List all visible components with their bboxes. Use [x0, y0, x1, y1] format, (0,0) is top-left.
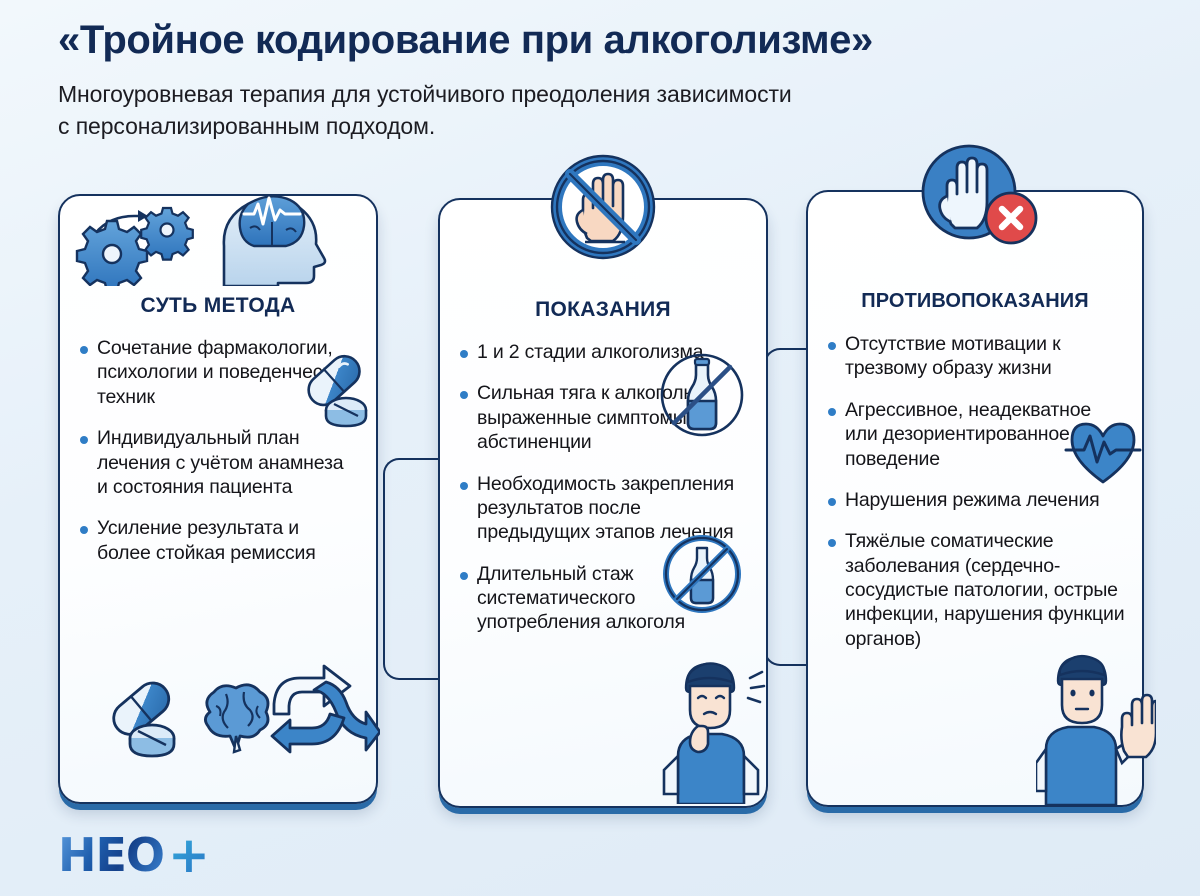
list-item: Сочетание фармакологии, психологии и пов… — [80, 336, 362, 409]
stop-hand-prohibited-icon — [543, 146, 663, 268]
card-1-bullets: Сочетание фармакологии, психологии и пов… — [80, 336, 362, 582]
bullet-dot-icon — [80, 526, 88, 534]
card-2-bullets: 1 и 2 стадии алкоголизма Сильная тяга к … — [460, 340, 752, 652]
logo-plus-icon: + — [168, 826, 210, 884]
worried-man-icon — [658, 652, 770, 804]
list-item: Усиление результата и более стойкая реми… — [80, 516, 362, 565]
bullet-text: Длительный стаж систематического употреб… — [477, 562, 752, 635]
bullet-dot-icon — [460, 572, 468, 580]
list-item: Отсутствие мотивации к трезвому образу ж… — [828, 332, 1128, 381]
hand-stop-red-x-icon — [907, 138, 1043, 260]
card-1-header-icons — [60, 182, 376, 286]
bullet-text: Сильная тяга к алкоголю и выраженные сим… — [477, 381, 752, 454]
logo-text: НЕО — [58, 828, 164, 882]
list-item: Сильная тяга к алкоголю и выраженные сим… — [460, 381, 752, 454]
bullet-text: Агрессивное, неадекватное или дезориенти… — [845, 398, 1128, 471]
bullet-dot-icon — [460, 391, 468, 399]
card-3-title: ПРОТИВОПОКАЗАНИЯ — [808, 290, 1142, 313]
list-item: Индивидуальный план лечения с учётом ана… — [80, 426, 362, 499]
bullet-text: Отсутствие мотивации к трезвому образу ж… — [845, 332, 1128, 381]
bullet-text: Тяжёлые соматические заболевания (сердеч… — [845, 529, 1128, 651]
brand-logo[interactable]: НЕО + — [58, 826, 210, 884]
bullet-text: 1 и 2 стадии алкоголизма — [477, 340, 703, 364]
gears-and-head-brain-icon — [72, 182, 372, 286]
list-item: Агрессивное, неадекватное или дезориенти… — [828, 398, 1128, 471]
bullet-dot-icon — [828, 498, 836, 506]
list-item: Необходимость закрепления результатов по… — [460, 472, 752, 545]
bullet-text: Индивидуальный план лечения с учётом ана… — [97, 426, 355, 499]
bullet-dot-icon — [828, 342, 836, 350]
card-2-header-icons — [440, 164, 766, 268]
card-method-essence[interactable]: СУТЬ МЕТОДА Сочетание фармакологии, псих… — [58, 194, 378, 804]
cards-container: СУТЬ МЕТОДА Сочетание фармакологии, псих… — [0, 0, 1200, 896]
card-1-title: СУТЬ МЕТОДА — [60, 294, 376, 318]
bullet-dot-icon — [828, 408, 836, 416]
card-3-header-icons — [808, 156, 1142, 260]
pills-icon — [94, 668, 194, 764]
list-item: Нарушения режима лечения — [828, 488, 1128, 512]
bullet-dot-icon — [460, 350, 468, 358]
bullet-text: Усиление результата и более стойкая реми… — [97, 516, 355, 565]
bullet-dot-icon — [460, 482, 468, 490]
list-item: Тяжёлые соматические заболевания (сердеч… — [828, 529, 1128, 651]
list-item: 1 и 2 стадии алкоголизма — [460, 340, 752, 364]
brain-icon — [192, 678, 278, 760]
shuffle-arrows-icon — [270, 658, 380, 764]
card-2-title: ПОКАЗАНИЯ — [440, 298, 766, 322]
list-item: Длительный стаж систематического употреб… — [460, 562, 752, 635]
bullet-text: Нарушения режима лечения — [845, 488, 1100, 512]
bullet-text: Сочетание фармакологии, психологии и пов… — [97, 336, 355, 409]
card-3-bullets: Отсутствие мотивации к трезвому образу ж… — [828, 332, 1128, 668]
card-indications[interactable]: ПОКАЗАНИЯ 1 и 2 стадии алкоголизма Сильн… — [438, 198, 768, 808]
man-raised-hand-icon — [1036, 647, 1156, 805]
bullet-dot-icon — [828, 539, 836, 547]
connector-bracket-1 — [383, 458, 439, 680]
bullet-dot-icon — [80, 346, 88, 354]
bullet-dot-icon — [80, 436, 88, 444]
bullet-text: Необходимость закрепления результатов по… — [477, 472, 752, 545]
card-contraindications[interactable]: ПРОТИВОПОКАЗАНИЯ Отсутствие мотивации к … — [806, 190, 1144, 807]
